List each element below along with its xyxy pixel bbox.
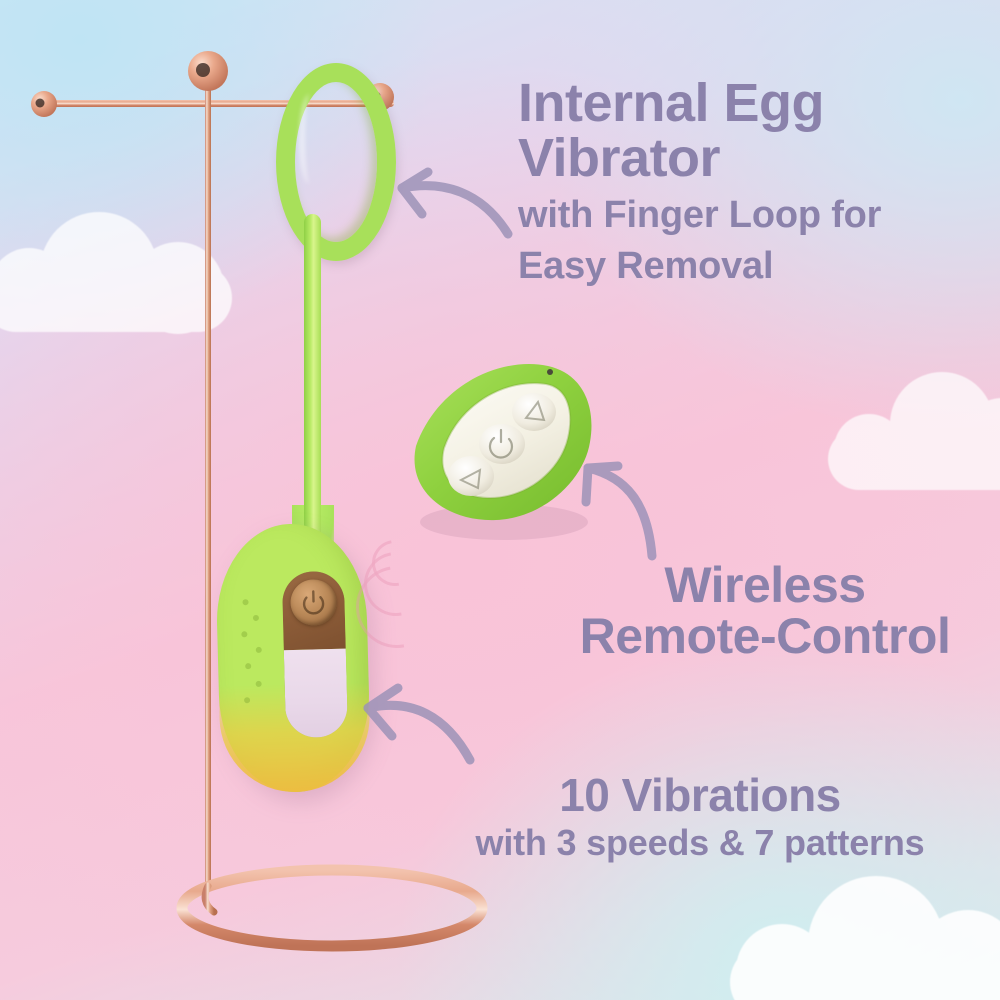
callout-1-headline-line1: Internal Egg (518, 76, 988, 131)
button-power[interactable] (479, 424, 525, 464)
egg-panel-bottom (284, 649, 348, 739)
led-dot (547, 369, 553, 375)
product-infographic: Internal Egg Vibrator with Finger Loop f… (0, 0, 1000, 1000)
callout-3-sub-line1: with 3 speeds & 7 patterns (420, 823, 980, 863)
callout-2-headline-line2: Remote-Control (545, 611, 985, 662)
vibration-waves (372, 540, 462, 650)
button-decrease[interactable] (448, 456, 494, 496)
callout-internal-egg-vibrator: Internal Egg Vibrator with Finger Loop f… (518, 76, 988, 287)
egg-control-panel (282, 571, 348, 739)
egg-vibrator (215, 522, 372, 794)
button-increase[interactable] (512, 393, 556, 431)
silicone-cord (304, 214, 321, 544)
callout-1-sub-line2: Easy Removal (518, 245, 988, 288)
callout-wireless-remote-control: Wireless Remote-Control (545, 560, 985, 662)
callout-3-headline-line1: 10 Vibrations (420, 772, 980, 819)
callout-1-sub-line1: with Finger Loop for (518, 194, 988, 237)
arrow-to-finger-loop (378, 162, 518, 254)
arrow-to-remote (556, 452, 676, 564)
arrow-to-egg (350, 678, 480, 774)
callout-1-headline-line2: Vibrator (518, 131, 988, 186)
callout-2-headline-line1: Wireless (545, 560, 985, 611)
callout-ten-vibrations: 10 Vibrations with 3 speeds & 7 patterns (420, 772, 980, 863)
egg-texture-dots (238, 597, 267, 708)
power-icon (301, 589, 326, 616)
